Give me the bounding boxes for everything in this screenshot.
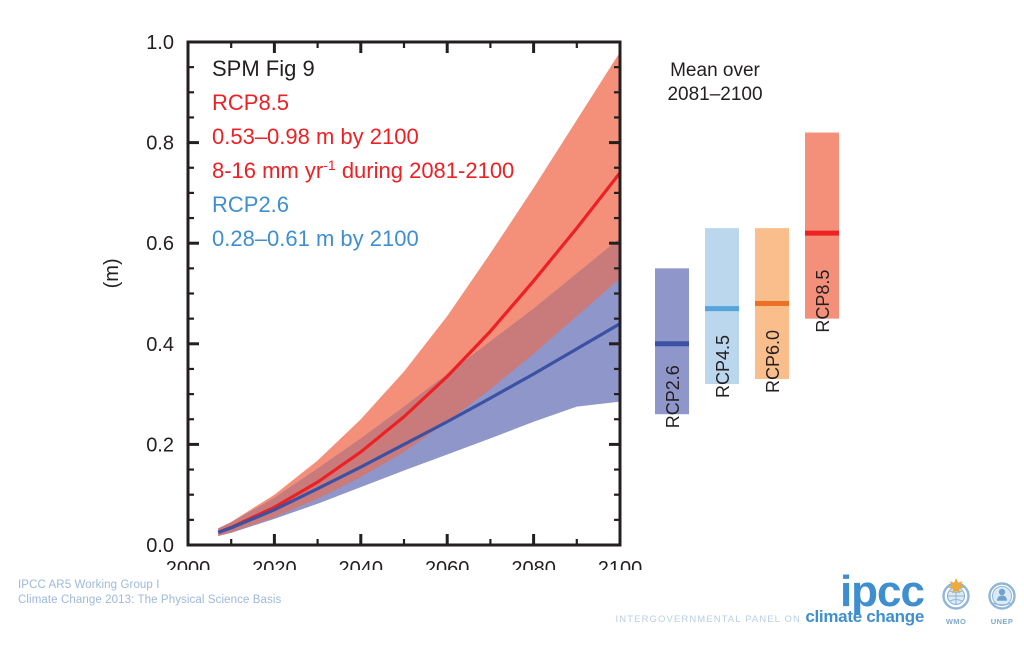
annotation-line: RCP8.5 [212,90,289,115]
xtick-label: 2020 [252,558,297,570]
footer-line-2: Climate Change 2013: The Physical Scienc… [18,593,281,608]
slide-canvas: 0.00.20.40.60.81.02000202020402060208021… [0,0,1024,648]
sponsor-seals: WMO UNEP [938,576,1024,632]
side-panel-title-line1: Mean over [670,60,760,81]
annotation-line: 0.53–0.98 m by 2100 [212,124,419,149]
xtick-label: 2080 [511,558,556,570]
side-panel-bar-RCP8.5: RCP8.5 [805,133,839,333]
annotation-line: SPM Fig 9 [212,56,315,81]
y-axis-title: (m) [101,258,123,288]
annotation-superscript: -1 [323,157,336,173]
bar-label: RCP4.5 [713,335,733,398]
ytick-label: 0.0 [146,535,174,557]
unep-seal-label: UNEP [984,617,1020,626]
xtick-label: 2000 [166,558,211,570]
side-panel-bar-RCP2.6: RCP2.6 [655,268,689,428]
ytick-label: 0.4 [146,334,174,356]
ytick-label: 0.2 [146,434,174,456]
ipcc-tagline: INTERGOVERNMENTAL PANEL ON climate chang… [616,609,924,628]
ytick-label: 1.0 [146,32,174,54]
ipcc-tagline-big: climate change [805,607,924,626]
side-panel-title-line2: 2081–2100 [667,84,762,105]
bar-label: RCP8.5 [813,270,833,333]
wmo-seal-icon [938,576,974,616]
ipcc-tagline-small: INTERGOVERNMENTAL PANEL ON [616,614,801,625]
ipcc-logo-block: ipcc INTERGOVERNMENTAL PANEL ON climate … [600,572,1010,638]
wmo-seal-label: WMO [938,617,974,626]
xtick-label: 2040 [339,558,384,570]
xtick-label: 2060 [425,558,470,570]
side-panel-bar-RCP6.0: RCP6.0 [755,228,789,393]
side-panel: Mean over2081–2100RCP2.6RCP4.5RCP6.0RCP8… [655,60,839,428]
annotation-line: RCP2.6 [212,192,289,217]
annotation-post: during 2081-2100 [336,158,515,183]
unep-seal: UNEP [984,576,1020,626]
ytick-label: 0.6 [146,233,174,255]
sea-level-projection-figure: 0.00.20.40.60.81.02000202020402060208021… [0,0,1024,570]
footer-line-1: IPCC AR5 Working Group I [18,578,281,593]
ipcc-logo: ipcc INTERGOVERNMENTAL PANEL ON climate … [600,572,930,634]
xtick-label: 2100 [598,558,643,570]
annotation-pre: 8-16 mm yr [212,158,323,183]
annotation-line: 8-16 mm yr-1 during 2081-2100 [212,157,514,183]
side-panel-bar-RCP4.5: RCP4.5 [705,228,739,398]
footer-citation: IPCC AR5 Working Group I Climate Change … [18,578,281,608]
ytick-label: 0.8 [146,133,174,155]
wmo-seal: WMO [938,576,974,626]
bar-label: RCP6.0 [763,330,783,393]
bar-label: RCP2.6 [663,365,683,428]
unep-seal-icon [984,576,1020,616]
annotation-line: 0.28–0.61 m by 2100 [212,226,419,251]
